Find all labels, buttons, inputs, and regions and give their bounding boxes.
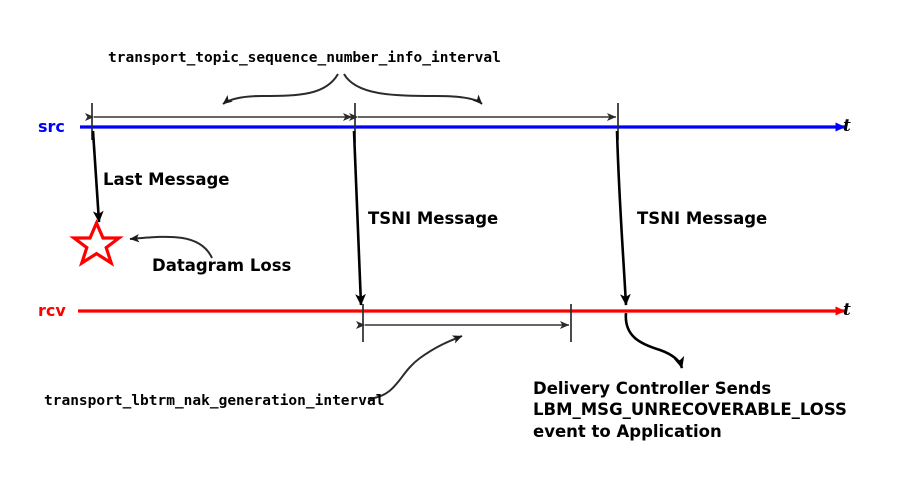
datagram-loss-pointer-group <box>130 237 212 258</box>
last-message-arrow <box>93 131 99 222</box>
tsni-interval-label: transport_topic_sequence_number_info_int… <box>108 50 501 67</box>
timing-diagram: transport_topic_sequence_number_info_int… <box>0 0 908 480</box>
tsni-message-1-arrow-group <box>354 131 361 305</box>
nak-interval-pointer <box>368 336 462 399</box>
unrecoverable-loss-pointer <box>626 313 682 368</box>
nak-interval-label: transport_lbtrm_nak_generation_interval <box>44 393 384 410</box>
last-message-arrow-group <box>93 131 99 222</box>
tsni-message-2-arrow-group <box>617 131 626 305</box>
tsni-message-2-arrow <box>617 131 626 305</box>
unrecoverable-loss-note-line-3: event to Application <box>533 421 847 442</box>
tsni-interval-pointer-left <box>223 74 338 104</box>
tsni-message-1-label: TSNI Message <box>368 209 498 228</box>
tsni-message-2-label: TSNI Message <box>637 209 767 228</box>
datagram-loss-label: Datagram Loss <box>152 256 291 275</box>
datagram-loss-star <box>74 223 119 263</box>
unrecoverable-loss-note: Delivery Controller Sends LBM_MSG_UNRECO… <box>533 378 847 442</box>
src-timeline-label: src <box>38 118 65 137</box>
unrecoverable-loss-pointer-group <box>626 313 682 368</box>
tsni-interval-pointer-right <box>344 74 482 104</box>
tsni-interval-pointer-arrows <box>223 74 482 104</box>
rcv-timeline-label: rcv <box>38 302 66 321</box>
datagram-loss-pointer <box>130 237 212 258</box>
rcv-axis-t-label: t <box>843 300 851 320</box>
src-axis-t-label: t <box>843 116 851 136</box>
unrecoverable-loss-note-line-2: LBM_MSG_UNRECOVERABLE_LOSS <box>533 399 847 420</box>
last-message-label: Last Message <box>103 170 230 189</box>
tsni-message-1-arrow <box>354 131 361 305</box>
unrecoverable-loss-note-line-1: Delivery Controller Sends <box>533 378 847 399</box>
